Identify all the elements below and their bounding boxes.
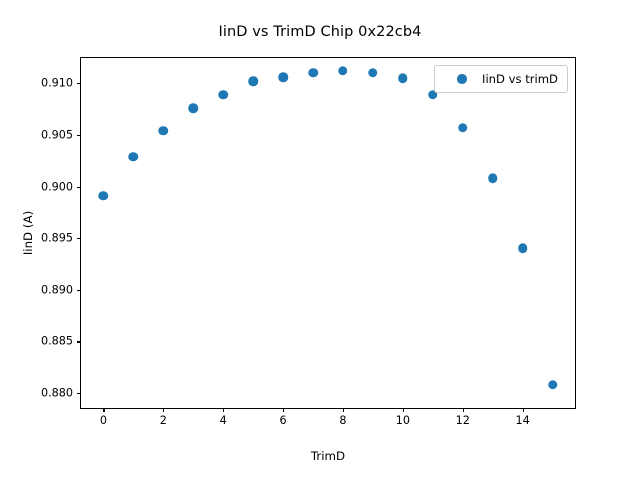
data-point bbox=[488, 174, 498, 184]
x-tick-label: 14 bbox=[515, 414, 529, 427]
plot-axes: 0.8800.8850.8900.8950.9000.9050.910 0246… bbox=[80, 57, 576, 409]
x-tick-mark bbox=[103, 408, 104, 412]
legend-marker-cell bbox=[444, 74, 480, 84]
y-tick-label: 0.895 bbox=[41, 232, 73, 245]
data-point bbox=[248, 76, 258, 86]
x-tick-label: 4 bbox=[220, 414, 227, 427]
y-tick-label: 0.910 bbox=[41, 77, 73, 90]
x-tick-label: 6 bbox=[280, 414, 287, 427]
data-point bbox=[338, 66, 348, 76]
data-point bbox=[278, 72, 288, 82]
data-point bbox=[518, 244, 528, 254]
chart-legend[interactable]: IinD vs trimD bbox=[434, 65, 568, 93]
x-axis-label: TrimD bbox=[80, 449, 576, 463]
data-point bbox=[458, 123, 468, 133]
data-point bbox=[129, 152, 139, 162]
x-tick-mark bbox=[223, 408, 224, 412]
data-point bbox=[368, 68, 378, 78]
x-tick-mark bbox=[343, 408, 344, 412]
data-point bbox=[159, 126, 169, 136]
x-tick-mark bbox=[163, 408, 164, 412]
x-tick-mark bbox=[403, 408, 404, 412]
x-tick-label: 12 bbox=[456, 414, 470, 427]
data-point bbox=[308, 68, 318, 78]
page-title: IinD vs TrimD Chip 0x22cb4 bbox=[0, 24, 640, 40]
data-point bbox=[189, 103, 199, 113]
x-tick-label: 2 bbox=[160, 414, 167, 427]
data-point bbox=[218, 90, 228, 100]
y-tick-label: 0.890 bbox=[41, 283, 73, 296]
y-tick-label: 0.880 bbox=[41, 387, 73, 400]
y-axis-label: IinD (A) bbox=[21, 211, 35, 255]
x-tick-label: 8 bbox=[339, 414, 346, 427]
legend-label: IinD vs trimD bbox=[480, 72, 558, 86]
data-point bbox=[398, 73, 408, 83]
data-point bbox=[99, 191, 109, 201]
y-tick-label: 0.905 bbox=[41, 128, 73, 141]
legend-marker-icon bbox=[457, 74, 467, 84]
scatter-data-layer bbox=[81, 58, 575, 408]
data-point bbox=[548, 380, 558, 390]
x-tick-mark bbox=[283, 408, 284, 412]
y-tick-label: 0.885 bbox=[41, 335, 73, 348]
matplotlib-figure: IinD vs TrimD Chip 0x22cb4 0.8800.8850.8… bbox=[0, 0, 640, 480]
x-tick-mark bbox=[523, 408, 524, 412]
x-tick-label: 0 bbox=[100, 414, 107, 427]
y-tick-label: 0.900 bbox=[41, 180, 73, 193]
x-tick-label: 10 bbox=[396, 414, 410, 427]
x-tick-mark bbox=[463, 408, 464, 412]
